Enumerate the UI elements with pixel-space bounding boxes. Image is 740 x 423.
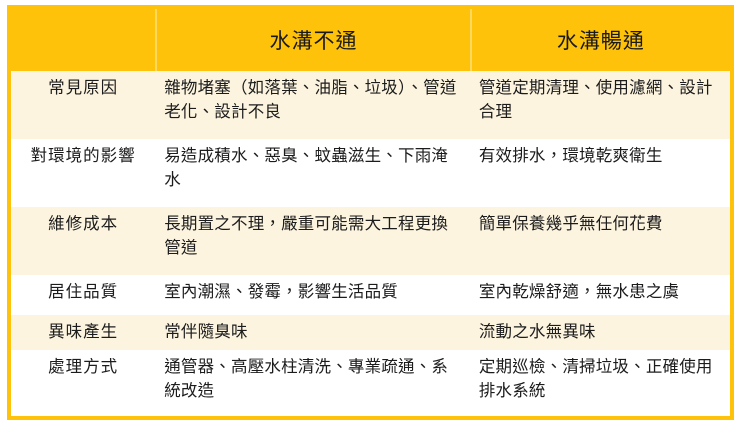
row-label-text: 維修成本 (11, 207, 155, 275)
row-clear-text: 管道定期清理、使用濾網、設計合理 (470, 71, 730, 139)
row-blocked-cell: 通管器、高壓水柱清洗、專業疏通、系統改造 (155, 350, 470, 416)
row-clear-text: 流動之水無異味 (470, 315, 730, 350)
row-clear-cell: 流動之水無異味 (470, 315, 730, 350)
row-label-text: 居住品質 (11, 275, 155, 315)
row-blocked-text: 易造成積水、惡臭、蚊蟲滋生、下雨淹水 (155, 139, 470, 207)
row-blocked-text: 長期置之不理，嚴重可能需大工程更換管道 (155, 207, 470, 275)
header-row: 水溝不通 水溝暢通 (11, 9, 730, 71)
row-clear-cell: 有效排水，環境乾爽衛生 (470, 139, 730, 207)
row-clear-text: 定期巡檢、清掃垃圾、正確使用排水系統 (470, 350, 730, 416)
header-label-blank (11, 9, 155, 71)
table-row: 處理方式 通管器、高壓水柱清洗、專業疏通、系統改造 定期巡檢、清掃垃圾、正確使用… (11, 350, 730, 416)
row-clear-text: 有效排水，環境乾爽衛生 (470, 139, 730, 207)
table-header: 水溝不通 水溝暢通 (11, 9, 730, 71)
row-blocked-text: 雜物堵塞（如落葉、油脂、垃圾）、管道老化、設計不良 (155, 71, 470, 139)
row-label-text: 處理方式 (11, 350, 155, 416)
row-label-cell: 處理方式 (11, 350, 155, 416)
header-cell-blocked: 水溝不通 (155, 9, 470, 71)
row-label-cell: 對環境的影響 (11, 139, 155, 207)
row-blocked-cell: 雜物堵塞（如落葉、油脂、垃圾）、管道老化、設計不良 (155, 71, 470, 139)
header-label-clear: 水溝暢通 (470, 9, 730, 71)
header-label-blocked: 水溝不通 (155, 9, 470, 71)
table-row: 對環境的影響 易造成積水、惡臭、蚊蟲滋生、下雨淹水 有效排水，環境乾爽衛生 (11, 139, 730, 207)
table-row: 常見原因 雜物堵塞（如落葉、油脂、垃圾）、管道老化、設計不良 管道定期清理、使用… (11, 71, 730, 139)
row-clear-text: 簡單保養幾乎無任何花費 (470, 207, 730, 275)
comparison-table-container: 水溝不通 水溝暢通 常見原因 雜物堵塞（如落葉、油脂、垃圾）、管道老化、設計不良… (0, 0, 740, 423)
row-label-cell: 維修成本 (11, 207, 155, 275)
row-clear-cell: 簡單保養幾乎無任何花費 (470, 207, 730, 275)
header-cell-blank (11, 9, 155, 71)
row-label-cell: 常見原因 (11, 71, 155, 139)
table-row: 異味產生 常伴隨臭味 流動之水無異味 (11, 315, 730, 350)
row-blocked-cell: 室內潮濕、發霉，影響生活品質 (155, 275, 470, 315)
row-blocked-text: 常伴隨臭味 (155, 315, 470, 350)
row-clear-cell: 室內乾燥舒適，無水患之虞 (470, 275, 730, 315)
row-clear-cell: 定期巡檢、清掃垃圾、正確使用排水系統 (470, 350, 730, 416)
row-label-cell: 居住品質 (11, 275, 155, 315)
row-clear-cell: 管道定期清理、使用濾網、設計合理 (470, 71, 730, 139)
row-blocked-text: 室內潮濕、發霉，影響生活品質 (155, 275, 470, 315)
table-row: 維修成本 長期置之不理，嚴重可能需大工程更換管道 簡單保養幾乎無任何花費 (11, 207, 730, 275)
row-clear-text: 室內乾燥舒適，無水患之虞 (470, 275, 730, 315)
row-blocked-cell: 常伴隨臭味 (155, 315, 470, 350)
header-cell-clear: 水溝暢通 (470, 9, 730, 71)
table-row: 居住品質 室內潮濕、發霉，影響生活品質 室內乾燥舒適，無水患之虞 (11, 275, 730, 315)
row-blocked-cell: 長期置之不理，嚴重可能需大工程更換管道 (155, 207, 470, 275)
row-label-cell: 異味產生 (11, 315, 155, 350)
row-blocked-text: 通管器、高壓水柱清洗、專業疏通、系統改造 (155, 350, 470, 416)
row-label-text: 對環境的影響 (11, 139, 155, 207)
row-label-text: 常見原因 (11, 71, 155, 139)
row-blocked-cell: 易造成積水、惡臭、蚊蟲滋生、下雨淹水 (155, 139, 470, 207)
row-label-text: 異味產生 (11, 315, 155, 350)
table-body: 常見原因 雜物堵塞（如落葉、油脂、垃圾）、管道老化、設計不良 管道定期清理、使用… (11, 71, 730, 416)
comparison-table: 水溝不通 水溝暢通 常見原因 雜物堵塞（如落葉、油脂、垃圾）、管道老化、設計不良… (7, 5, 734, 420)
